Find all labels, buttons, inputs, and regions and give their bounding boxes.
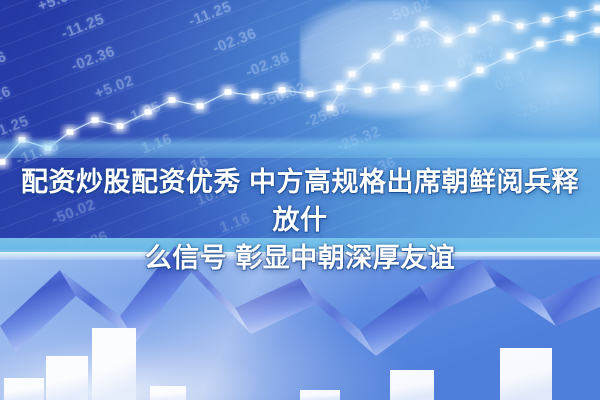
chart-node [543,17,550,23]
bar [500,348,552,400]
bar [92,328,136,400]
chart-node [373,53,380,59]
chart-node [169,97,176,103]
news-banner: -02.36+5.02-11.25-02.3621.06-02.36-11.25… [0,0,600,400]
chart-node [537,41,544,47]
chart-node [595,27,600,33]
upper-light-band [0,136,600,158]
chart-node [517,23,524,29]
chart-node [365,87,372,93]
chart-node [307,91,314,97]
bar [4,378,44,400]
chart-node [507,53,514,59]
chart-node [279,87,286,93]
chart-node [117,123,124,129]
chart-node [445,37,452,43]
chart-node [393,83,400,89]
chart-node [469,27,476,33]
chart-node [349,71,356,77]
chart-node [477,67,484,73]
chart-node [569,11,576,17]
chart-node [197,103,204,109]
chart-line [330,8,598,108]
white-bar-chart [0,300,600,400]
chart-node [421,85,428,91]
chart-node [567,35,574,41]
chart-node [595,5,600,11]
headline-text: 配资炒股配资优秀 中方高规格出席朝鲜阅兵释放什 么信号 彰显中朝深厚友谊 [0,163,600,277]
chart-node [145,109,152,115]
chart-node [421,21,428,27]
chart-node [449,81,456,87]
chart-node [327,105,334,111]
bar [300,390,340,400]
bar [46,356,88,400]
chart-node [92,117,99,123]
chart-node [493,15,500,21]
chart-node [252,93,259,99]
bar [390,370,434,400]
chart-node [397,35,404,41]
chart-node [67,129,74,135]
chart-node [225,89,232,95]
bar [150,386,186,400]
